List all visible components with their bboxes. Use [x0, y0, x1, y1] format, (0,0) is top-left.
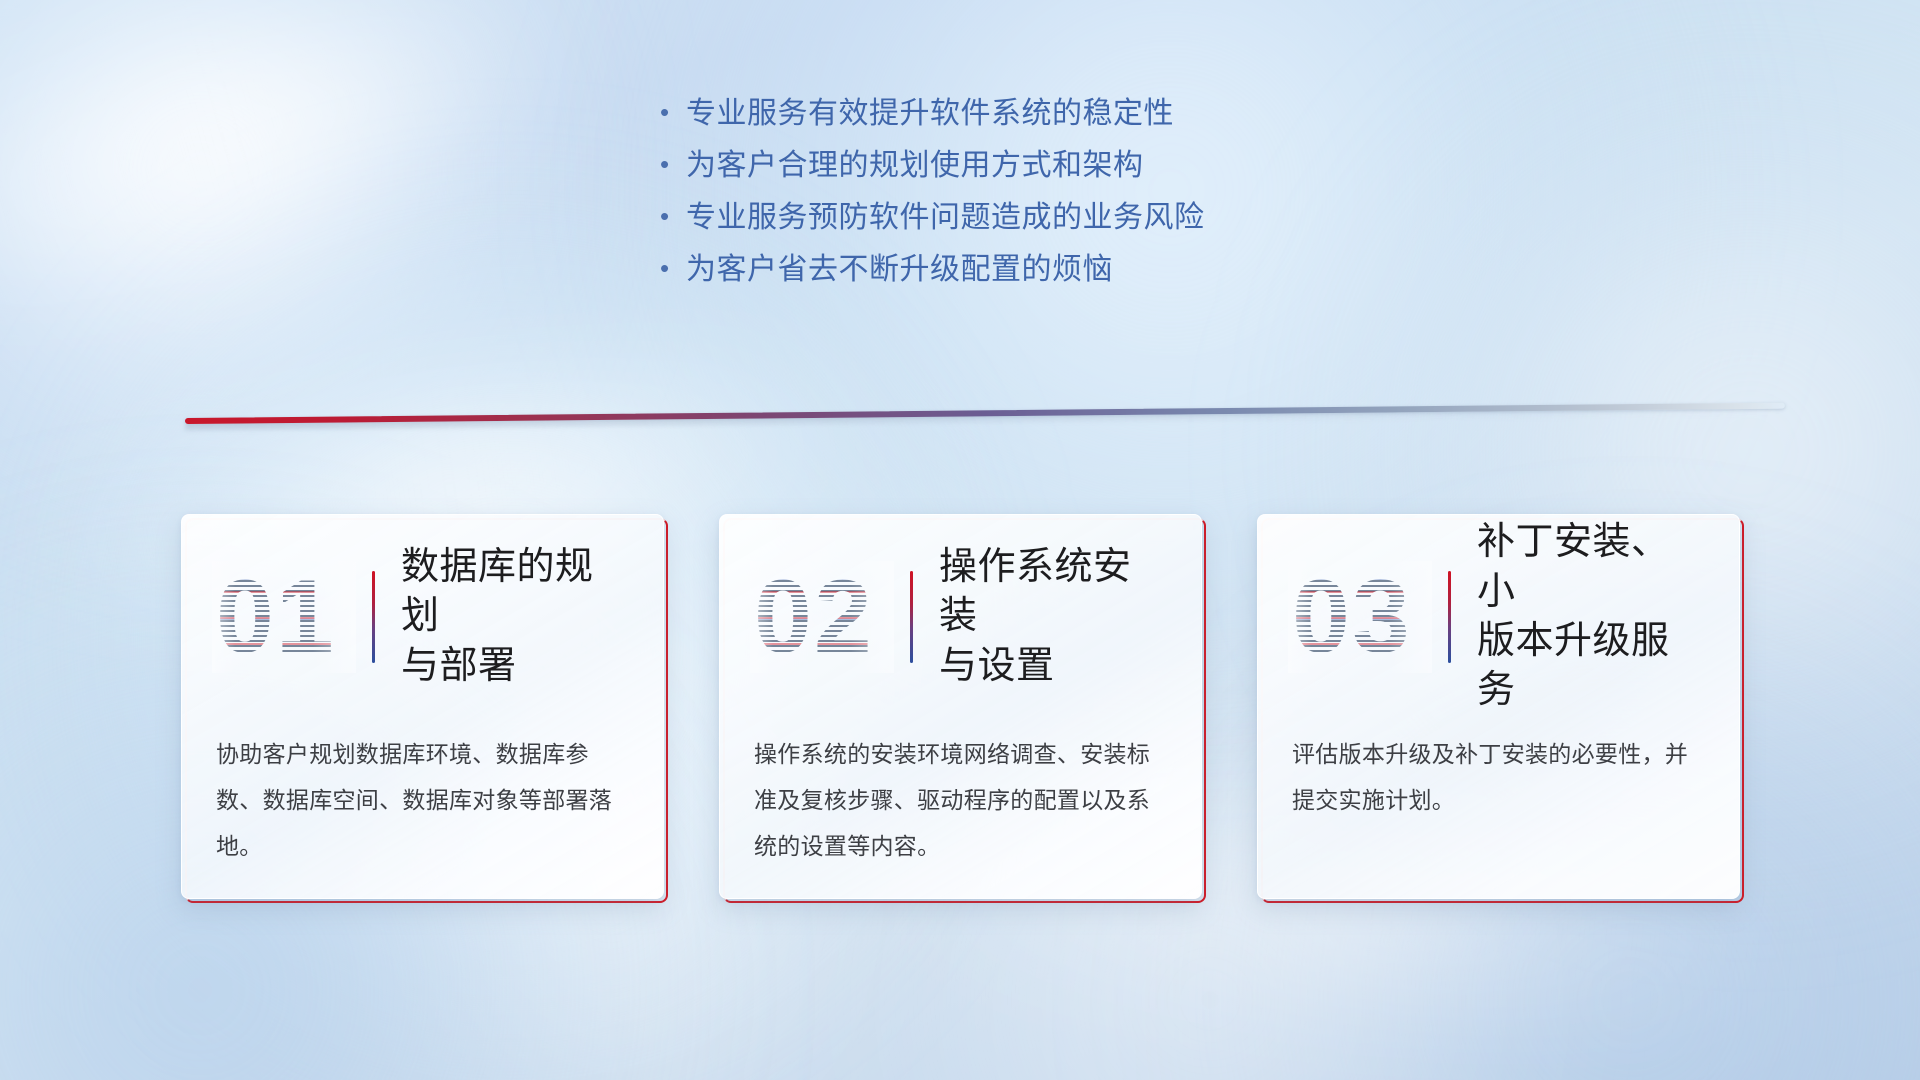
card-body-text: 操作系统的安装环境网络调查、安装标准及复核步骤、驱动程序的配置以及系统的设置等内… — [754, 731, 1167, 869]
card-header: 01 01 数据库的规划 与部署 — [216, 557, 629, 677]
bullet-dot-icon: • — [660, 203, 686, 229]
card-number-badge: 01 01 — [216, 565, 352, 669]
card-title: 操作系统安装 与设置 — [939, 543, 1167, 691]
card-body-text: 评估版本升级及补丁安装的必要性，并提交实施计划。 — [1292, 731, 1705, 823]
service-card-03[interactable]: 03 03 补丁安装、小 版本升级服务 评估版本升级及补丁安装的必要性，并提交实… — [1261, 518, 1744, 903]
card-title-separator — [910, 571, 913, 663]
section-divider — [185, 418, 1785, 448]
bullet-dot-icon: • — [660, 151, 686, 177]
card-number-tint: 02 — [754, 565, 874, 669]
card-number-badge: 03 03 — [1292, 565, 1428, 669]
card-title-separator — [1448, 571, 1451, 663]
card-title: 补丁安装、小 版本升级服务 — [1477, 518, 1705, 716]
card-body-text: 协助客户规划数据库环境、数据库参数、数据库空间、数据库对象等部署落地。 — [216, 731, 629, 869]
bullet-text: 专业服务有效提升软件系统的稳定性 — [686, 88, 1174, 132]
bullet-text: 为客户合理的规划使用方式和架构 — [686, 140, 1144, 184]
card-surface: 03 03 补丁安装、小 版本升级服务 评估版本升级及补丁安装的必要性，并提交实… — [1257, 514, 1740, 899]
card-title: 数据库的规划 与部署 — [401, 543, 629, 691]
bullet-dot-icon: • — [660, 99, 686, 125]
list-item: • 专业服务预防软件问题造成的业务风险 — [660, 192, 1205, 244]
card-number-tint: 03 — [1292, 565, 1412, 669]
card-surface: 02 02 操作系统安装 与设置 操作系统的安装环境网络调查、安装标准及复核步骤… — [719, 514, 1202, 899]
service-card-list: 01 01 数据库的规划 与部署 协助客户规划数据库环境、数据库参数、数据库空间… — [185, 518, 1745, 903]
list-item: • 为客户省去不断升级配置的烦恼 — [660, 244, 1205, 296]
card-header: 03 03 补丁安装、小 版本升级服务 — [1292, 557, 1705, 677]
card-surface: 01 01 数据库的规划 与部署 协助客户规划数据库环境、数据库参数、数据库空间… — [181, 514, 664, 899]
card-header: 02 02 操作系统安装 与设置 — [754, 557, 1167, 677]
list-item: • 为客户合理的规划使用方式和架构 — [660, 140, 1205, 192]
bullet-text: 专业服务预防软件问题造成的业务风险 — [686, 192, 1205, 236]
benefits-bullet-list: • 专业服务有效提升软件系统的稳定性 • 为客户合理的规划使用方式和架构 • 专… — [660, 88, 1205, 296]
bullet-text: 为客户省去不断升级配置的烦恼 — [686, 244, 1113, 288]
card-number-badge: 02 02 — [754, 565, 890, 669]
list-item: • 专业服务有效提升软件系统的稳定性 — [660, 88, 1205, 140]
card-number-tint: 01 — [216, 565, 336, 669]
service-card-01[interactable]: 01 01 数据库的规划 与部署 协助客户规划数据库环境、数据库参数、数据库空间… — [185, 518, 668, 903]
service-card-02[interactable]: 02 02 操作系统安装 与设置 操作系统的安装环境网络调查、安装标准及复核步骤… — [723, 518, 1206, 903]
bullet-dot-icon: • — [660, 255, 686, 281]
card-title-separator — [372, 571, 375, 663]
